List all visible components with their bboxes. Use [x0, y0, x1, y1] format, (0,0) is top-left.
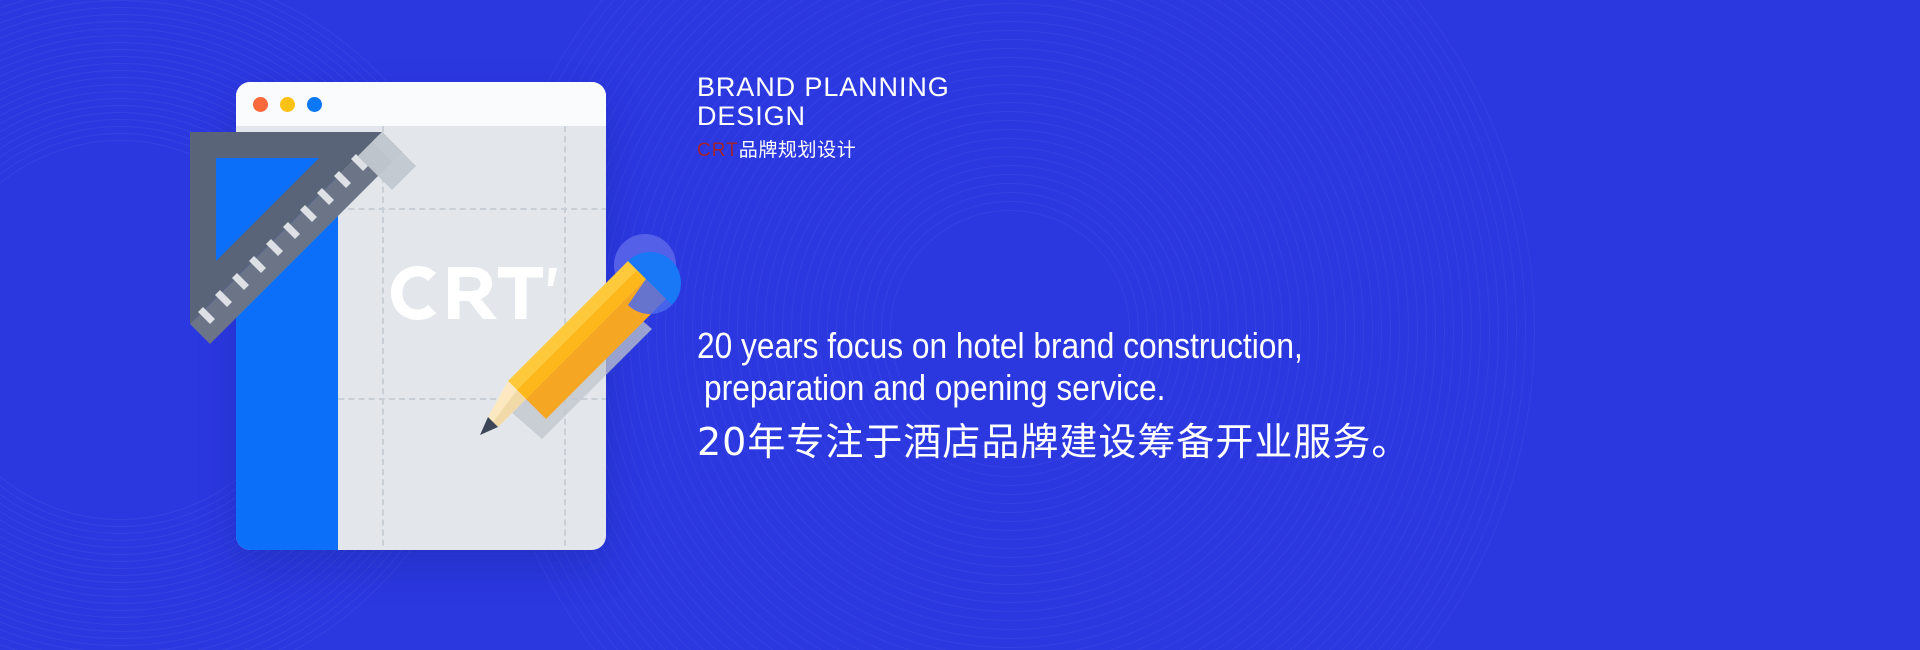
hero-illustration	[0, 0, 780, 650]
browser-titlebar	[236, 82, 606, 126]
window-close-dot-icon	[253, 97, 268, 112]
pencil-icon	[470, 225, 700, 455]
eyebrow-heading: BRAND PLANNING DESIGN CRT品牌规划设计	[697, 73, 1317, 162]
promo-banner: BRAND PLANNING DESIGN CRT品牌规划设计 20 years…	[0, 0, 1920, 650]
headline-block: 20 years focus on hotel brand constructi…	[697, 325, 1797, 465]
eyebrow-chinese-subtitle: CRT品牌规划设计	[697, 140, 1317, 162]
eyebrow-line-1: BRAND PLANNING	[697, 73, 1317, 102]
banner-copy: BRAND PLANNING DESIGN CRT品牌规划设计 20 years…	[697, 0, 1920, 650]
eyebrow-line-2: DESIGN	[697, 102, 1317, 131]
eyebrow-chinese-text: 品牌规划设计	[739, 140, 857, 161]
window-minimize-dot-icon	[280, 97, 295, 112]
eyebrow-brand-mark: CRT	[697, 140, 739, 161]
window-maximize-dot-icon	[307, 97, 322, 112]
headline-chinese-line: 20年专注于酒店品牌建设筹备开业服务。	[697, 419, 1797, 465]
headline-english-line-2: preparation and opening service.	[697, 367, 1665, 409]
headline-english-line-1: 20 years focus on hotel brand constructi…	[697, 325, 1665, 367]
triangle-ruler-icon	[186, 128, 436, 378]
